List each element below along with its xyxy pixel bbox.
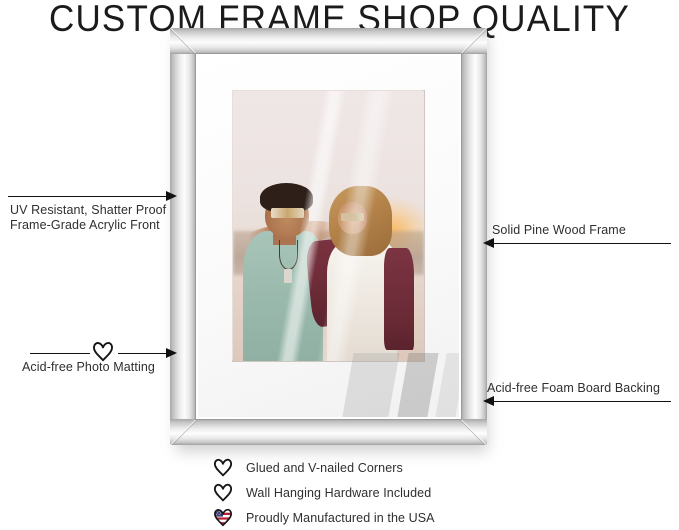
heart-icon [212,483,234,503]
frame-rail-bottom [170,419,487,445]
frame-rail-top [170,28,487,54]
callout-photo-matting: Acid-free Photo Matting [22,360,155,374]
callout-matting-arrow-line-b [118,353,168,354]
callout-matting-arrow-head [166,348,177,358]
heart-usa-flag-icon [212,508,234,528]
callout-pine-frame: Solid Pine Wood Frame [492,223,626,237]
callout-pine-arrow-line [494,243,671,244]
mat-opening [233,91,424,361]
mat-glare-2 [397,353,438,417]
callout-acrylic-arrow-head [166,191,177,201]
callout-pine-arrow-head [483,238,494,248]
product-photo [233,91,424,361]
callout-foam-backing: Acid-free Foam Board Backing [487,381,660,395]
callout-acrylic-front: UV Resistant, Shatter Proof Frame-Grade … [10,203,166,233]
callout-foam-arrow-head [483,396,494,406]
frame-rail-right [461,28,487,445]
mat-glare-3 [435,353,459,417]
callout-acrylic-line-1: UV Resistant, Shatter Proof [10,203,166,218]
photo-mat [198,56,459,417]
callout-matting-arrow-line-a [30,353,90,354]
feature-item: Wall Hanging Hardware Included [212,480,435,505]
feature-label: Proudly Manufactured in the USA [246,511,435,525]
heart-icon [212,458,234,478]
feature-label: Wall Hanging Hardware Included [246,486,431,500]
photo-man-dogtag [284,269,293,283]
product-frame [170,28,492,452]
photo-man-necklace [279,240,298,271]
frame-moulding [170,28,487,445]
callout-foam-arrow-line [494,401,671,402]
frame-rail-left [170,28,196,445]
feature-list: Glued and V-nailed Corners Wall Hanging … [212,455,435,530]
feature-label: Glued and V-nailed Corners [246,461,403,475]
feature-item: Glued and V-nailed Corners [212,455,435,480]
photo-jacket-right [384,248,415,351]
feature-item: Proudly Manufactured in the USA [212,505,435,530]
photo-man-sunglasses [271,208,303,217]
photo-woman-sunglasses [341,213,364,221]
heart-icon [92,341,114,362]
callout-acrylic-line-2: Frame-Grade Acrylic Front [10,218,166,233]
mat-glare-1 [342,353,399,417]
callout-acrylic-arrow-line [8,196,168,197]
